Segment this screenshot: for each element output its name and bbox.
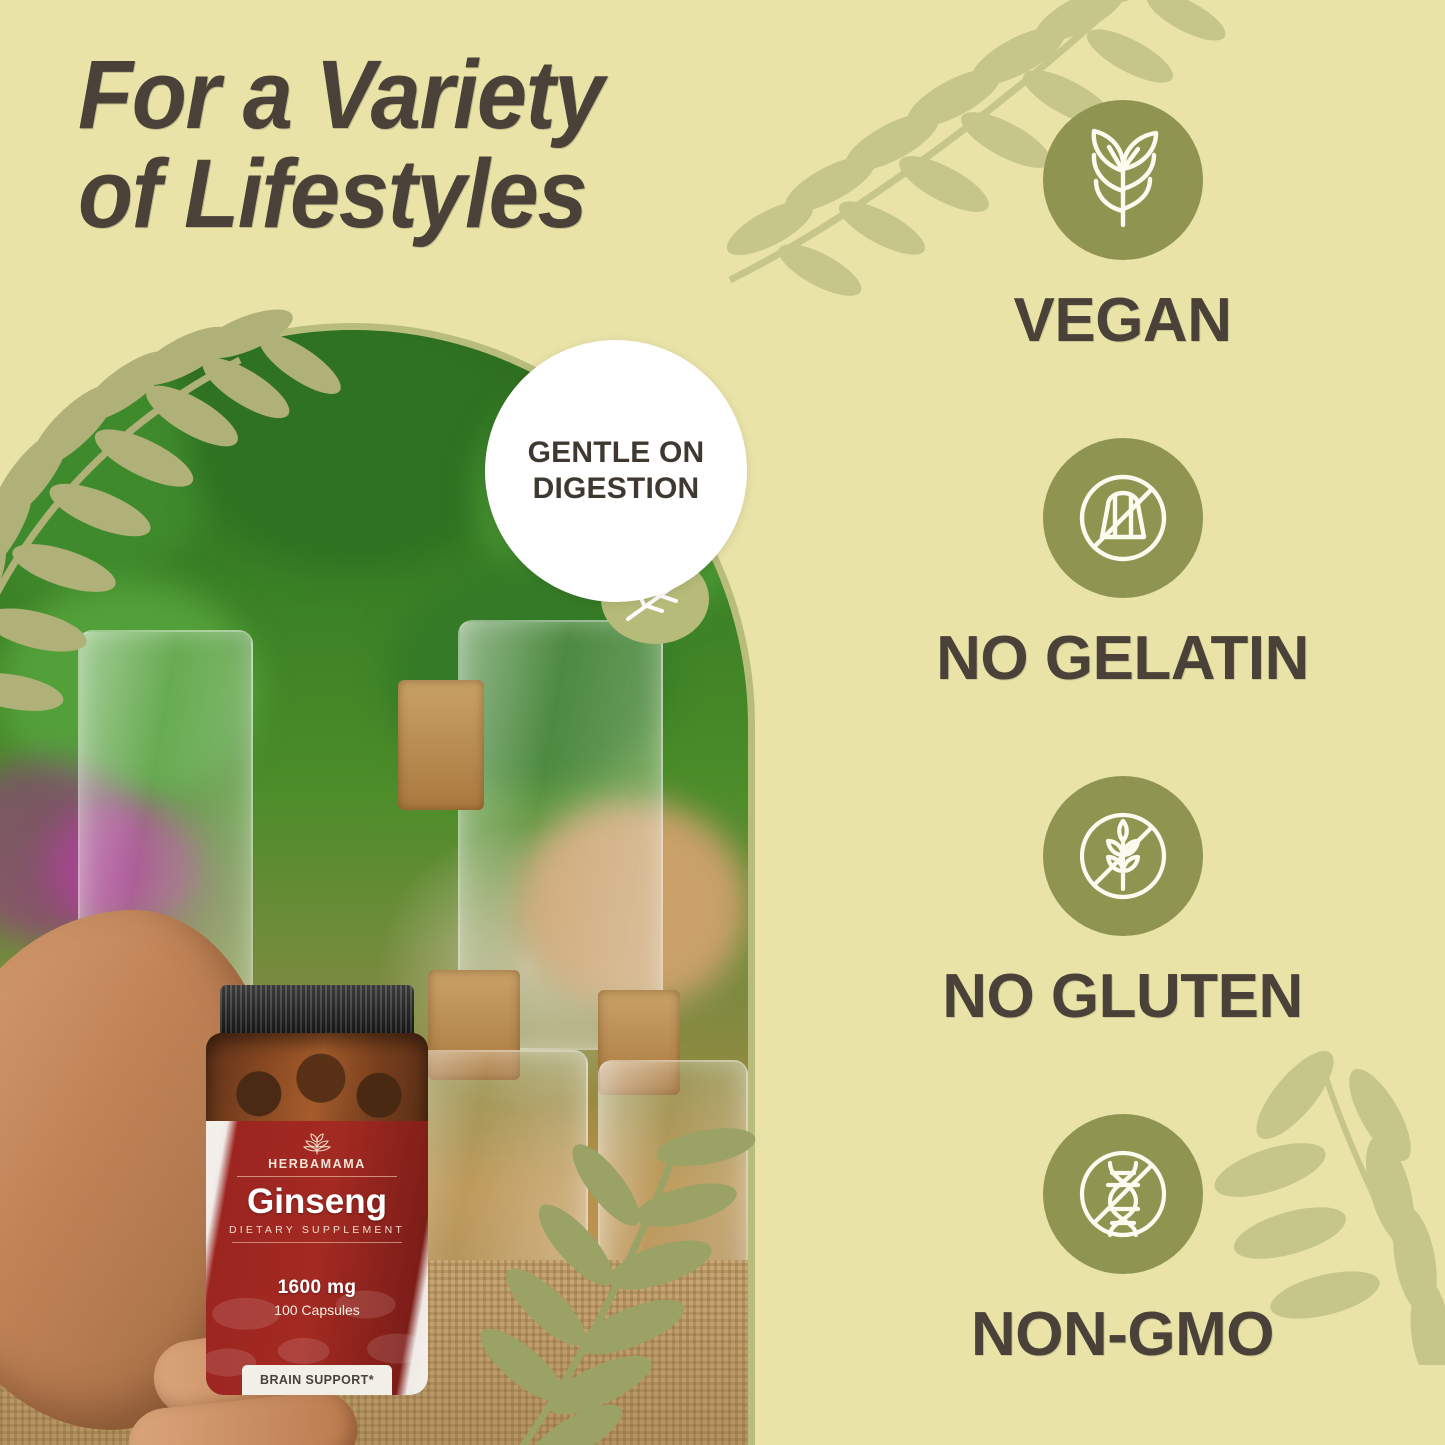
bottle-dosage: 1600 mg — [278, 1277, 357, 1299]
capsules-inside — [220, 1047, 414, 1125]
headline-line-2: of Lifestyles — [78, 145, 692, 244]
benefit-no-gluten: NO GLUTEN — [800, 776, 1445, 1028]
bottle-brand: HERBAMAMA — [268, 1157, 366, 1171]
bottle-subtitle: DIETARY SUPPLEMENT — [229, 1224, 405, 1236]
two-leaves-icon — [1043, 100, 1203, 260]
label-divider-bottom — [232, 1242, 402, 1243]
benefit-no-gelatin: NO GELATIN — [800, 438, 1445, 690]
no-gelatin-icon — [1043, 438, 1203, 598]
page-title: For a Variety of Lifestyles — [78, 46, 692, 244]
benefit-label: NON-GMO — [971, 1304, 1274, 1366]
benefit-label: VEGAN — [1014, 290, 1232, 352]
benefit-label: NO GLUTEN — [942, 966, 1303, 1028]
bottle-count: 100 Capsules — [274, 1302, 360, 1318]
bottle-claim: BRAIN SUPPORT* — [242, 1365, 392, 1395]
headline-line-1: For a Variety — [78, 46, 692, 145]
no-gmo-dna-icon — [1043, 1114, 1203, 1274]
benefits-list: VEGAN NO GELATIN — [800, 80, 1445, 1400]
bottle-product-name: Ginseng — [247, 1184, 387, 1219]
label-divider-top — [237, 1176, 397, 1177]
badge-line-2: DIGESTION — [533, 471, 700, 507]
herb-sprout-logo-icon — [300, 1130, 334, 1156]
benefit-vegan: VEGAN — [800, 100, 1445, 352]
bottle-cap — [220, 985, 414, 1039]
benefit-label: NO GELATIN — [936, 628, 1309, 690]
badge-line-1: GENTLE ON — [528, 435, 705, 471]
bottle-label: HERBAMAMA Ginseng DIETARY SUPPLEMENT 160… — [206, 1121, 428, 1395]
gentle-on-digestion-badge: GENTLE ON DIGESTION — [485, 340, 747, 602]
no-gluten-wheat-icon — [1043, 776, 1203, 936]
bottle-body: HERBAMAMA Ginseng DIETARY SUPPLEMENT 160… — [206, 1033, 428, 1395]
benefit-non-gmo: NON-GMO — [800, 1114, 1445, 1366]
cork-stopper-left — [398, 680, 484, 810]
supplement-bottle: HERBAMAMA Ginseng DIETARY SUPPLEMENT 160… — [206, 985, 428, 1395]
infographic-canvas: HERBAMAMA Ginseng DIETARY SUPPLEMENT 160… — [0, 0, 1445, 1445]
